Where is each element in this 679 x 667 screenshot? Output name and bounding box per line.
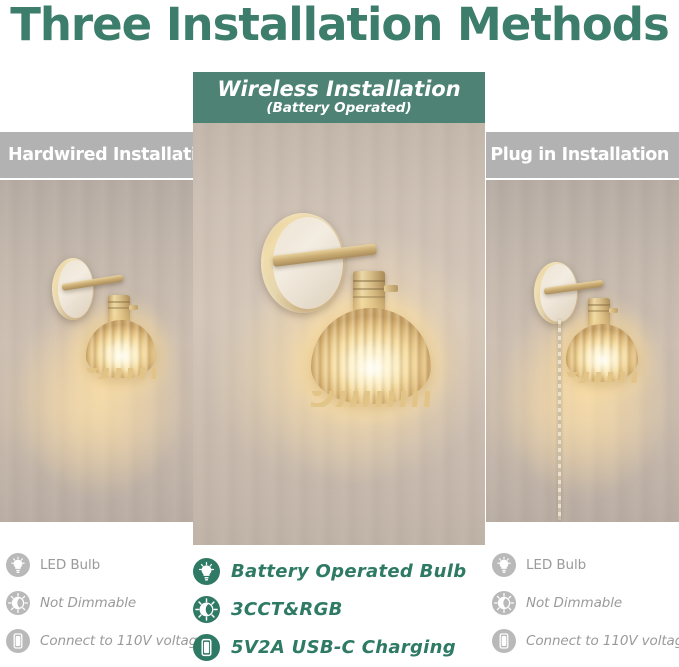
power-cord [558, 320, 561, 520]
socket-ring [588, 304, 610, 306]
wireless-feature-list: Battery Operated Bulb [193, 552, 485, 666]
feature-label: Not Dimmable [526, 595, 622, 611]
lamp-socket [353, 271, 385, 311]
feature-row: Connect to 110V voltage [492, 622, 679, 660]
hardwired-header-bar: Hardwired Installation [0, 132, 193, 178]
feature-label: Battery Operated Bulb [231, 561, 466, 582]
battery-icon [193, 634, 220, 661]
wireless-banner-subtitle: (Battery Operated) [266, 102, 411, 116]
feature-row: Battery Operated Bulb [193, 552, 485, 590]
feature-label: LED Bulb [40, 557, 100, 573]
shade-scallops [86, 368, 156, 379]
socket-ring [108, 307, 130, 309]
bulb-icon [193, 558, 220, 585]
socket-ring [108, 301, 130, 303]
feature-row: LED Bulb [6, 546, 196, 584]
feature-label: Connect to 110V voltage [40, 633, 205, 649]
shade-scallops [311, 391, 431, 407]
shade-hotspot [340, 341, 405, 397]
plugin-lamp-photo [486, 180, 679, 522]
wireless-banner: Wireless Installation (Battery Operated) [193, 72, 485, 123]
feature-row: Connect to 110V voltage [6, 622, 196, 660]
glass-shade [311, 308, 431, 404]
page-title: Three Installation Methods [0, 0, 679, 51]
socket-ring [353, 288, 385, 290]
dimmer-icon [6, 591, 30, 615]
feature-row: Not Dimmable [492, 584, 679, 622]
socket-ring [588, 310, 610, 312]
hardwired-feature-list: LED Bulb [6, 546, 196, 660]
feature-row: Not Dimmable [6, 584, 196, 622]
battery-icon [492, 629, 516, 653]
feature-row: LED Bulb [492, 546, 679, 584]
bulb-icon [6, 553, 30, 577]
feature-label: Connect to 110V voltage [526, 633, 679, 649]
lamp-socket [108, 295, 130, 323]
plugin-header-label: Plug in Installation [490, 145, 679, 165]
plugin-feature-list: LED Bulb [492, 546, 679, 660]
dimmer-icon [492, 591, 516, 615]
feature-label: 3CCT&RGB [231, 599, 343, 620]
feature-label: 5V2A USB-C Charging [231, 637, 456, 658]
hardwired-lamp-photo [0, 180, 193, 522]
socket-ring [353, 296, 385, 298]
feature-label: LED Bulb [526, 557, 586, 573]
feature-row: 5V2A USB-C Charging [193, 628, 485, 666]
wireless-banner-title: Wireless Installation [217, 79, 460, 100]
wireless-lamp-photo [193, 123, 485, 545]
infographic-canvas: Three Installation Methods Wireless Inst… [0, 0, 679, 667]
hardwired-header-label: Hardwired Installation [0, 145, 220, 165]
dimmer-icon [193, 596, 220, 623]
socket-ring [353, 280, 385, 282]
socket-knob [609, 308, 618, 313]
feature-label: Not Dimmable [40, 595, 136, 611]
plugin-header-bar: Plug in Installation [486, 132, 679, 178]
shade-scallops [566, 372, 638, 383]
feature-row: 3CCT&RGB [193, 590, 485, 628]
bulb-icon [492, 553, 516, 577]
battery-icon [6, 629, 30, 653]
socket-knob [384, 285, 398, 292]
socket-knob [129, 305, 138, 310]
lamp-socket [588, 298, 610, 326]
